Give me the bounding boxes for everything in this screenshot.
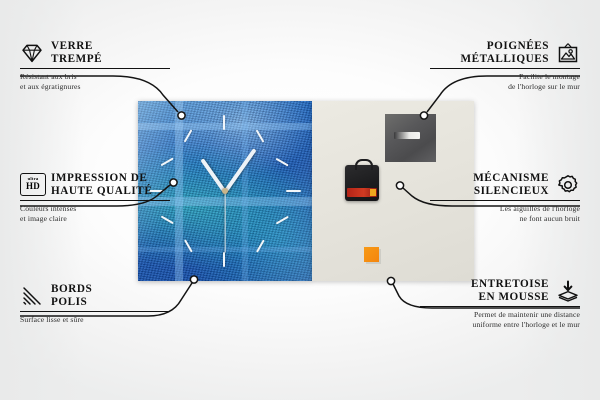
callout-title-line1: MÉCANISME (473, 172, 549, 185)
callout-title-line2: EN MOUSSE (471, 291, 549, 304)
callout-title-line2: POLIS (51, 296, 92, 309)
callout-bords-polis[interactable]: BORDS POLIS Surface lisse et sûre (20, 283, 170, 325)
callout-impression-haute-qualite[interactable]: ultra HD IMPRESSION DE HAUTE QUALITÉ Cou… (20, 172, 170, 224)
infographic-canvas: VERRE TREMPÉ Résistant aux bris et aux é… (0, 0, 600, 400)
callout-sub-line2: uniforme entre l'horloge et le mur (420, 320, 580, 330)
callout-sub-line2: de l'horloge sur le mur (430, 82, 580, 92)
callout-header: POIGNÉES MÉTALLIQUES (430, 40, 580, 65)
callout-title-line1: VERRE (51, 40, 102, 53)
callout-title-line2: MÉTALLIQUES (460, 53, 549, 66)
callout-sub-line1: Permet de maintenir une distance (420, 310, 580, 320)
callout-title-line2: SILENCIEUX (473, 185, 549, 198)
callout-rule (20, 200, 170, 201)
callout-verre-trempe[interactable]: VERRE TREMPÉ Résistant aux bris et aux é… (20, 40, 170, 92)
callout-title-line1: ENTRETOISE (471, 278, 549, 291)
callout-sub-line1: Facilite le montage (430, 72, 580, 82)
callout-rule (430, 68, 580, 69)
foam-spacer-icon (556, 279, 580, 303)
callout-sub-line1: Couleurs intenses (20, 204, 170, 214)
diamond-icon (20, 41, 44, 65)
ultra-hd-icon: ultra HD (20, 173, 44, 197)
callout-rule (420, 306, 580, 307)
callout-title-line2: TREMPÉ (51, 53, 102, 66)
gear-icon (556, 173, 580, 197)
callout-rule (20, 68, 170, 69)
callout-mecanisme-silencieux[interactable]: MÉCANISME SILENCIEUX Les aiguilles de l'… (430, 172, 580, 224)
callout-header: MÉCANISME SILENCIEUX (430, 172, 580, 197)
callout-sub-line1: Les aiguilles de l'horloge (430, 204, 580, 214)
ultra-hd-icon-bottom: HD (26, 182, 40, 191)
callout-sub-line1: Résistant aux bris (20, 72, 170, 82)
callout-title-line1: IMPRESSION DE (51, 172, 152, 185)
callout-poignees-metalliques[interactable]: POIGNÉES MÉTALLIQUES Facilite le montage… (430, 40, 580, 92)
callout-title-line1: BORDS (51, 283, 92, 296)
callout-sub-line1: Surface lisse et sûre (20, 315, 170, 325)
polished-edge-icon (20, 284, 44, 308)
callout-title-line1: POIGNÉES (460, 40, 549, 53)
callout-entretoise-en-mousse[interactable]: ENTRETOISE EN MOUSSE Permet de maintenir… (420, 278, 580, 330)
callout-header: VERRE TREMPÉ (20, 40, 170, 65)
callout-sub-line2: ne font aucun bruit (430, 214, 580, 224)
callout-sub-line2: et image claire (20, 214, 170, 224)
callout-rule (20, 311, 170, 312)
callout-rule (430, 200, 580, 201)
callout-header: ENTRETOISE EN MOUSSE (420, 278, 580, 303)
callout-title-line2: HAUTE QUALITÉ (51, 185, 152, 198)
callout-header: BORDS POLIS (20, 283, 170, 308)
picture-hanger-icon (556, 41, 580, 65)
callout-sub-line2: et aux égratignures (20, 82, 170, 92)
callout-header: ultra HD IMPRESSION DE HAUTE QUALITÉ (20, 172, 170, 197)
